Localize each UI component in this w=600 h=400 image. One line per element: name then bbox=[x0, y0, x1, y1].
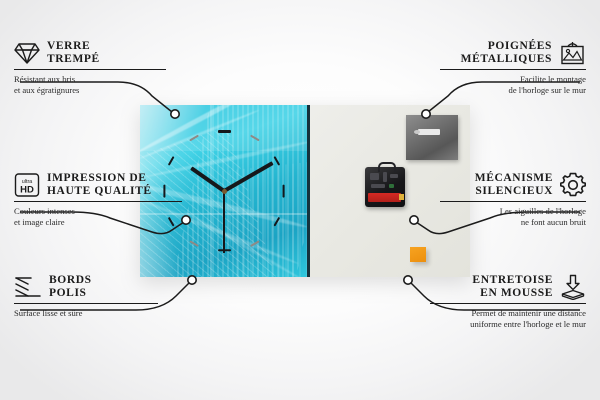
gear-icon bbox=[560, 172, 586, 198]
feature-title: POIGNÉES MÉTALLIQUES bbox=[461, 40, 552, 66]
mechanism-detail bbox=[390, 174, 398, 178]
feature-entretoise-mousse: ENTRETOISE EN MOUSSE Permet de maintenir… bbox=[430, 274, 586, 329]
diamond-icon bbox=[14, 41, 40, 65]
feature-title: IMPRESSION DE HAUTE QUALITÉ bbox=[47, 172, 152, 198]
hanger-slot bbox=[418, 129, 440, 135]
mechanism-detail bbox=[371, 184, 385, 188]
feature-desc-line1: Couleurs intenses bbox=[14, 206, 190, 217]
feature-desc-line1: Résistant aux bris bbox=[14, 74, 174, 85]
battery bbox=[368, 193, 401, 202]
feature-divider bbox=[14, 303, 158, 304]
feature-title: ENTRETOISE EN MOUSSE bbox=[472, 274, 553, 300]
mechanism-hanger-loop bbox=[378, 162, 396, 172]
feature-desc-line2: de l'horloge sur le mur bbox=[440, 85, 586, 96]
feature-header: ultra HD IMPRESSION DE HAUTE QUALITÉ bbox=[14, 172, 190, 198]
feature-header: MÉCANISME SILENCIEUX bbox=[440, 172, 586, 198]
feature-desc-line1: Facilite le montage bbox=[440, 74, 586, 85]
glass-seam-vertical bbox=[210, 105, 212, 277]
mechanism-detail bbox=[383, 172, 387, 182]
feature-divider bbox=[14, 69, 166, 70]
battery-terminal bbox=[399, 194, 404, 200]
feature-header: BORDS POLIS bbox=[14, 274, 166, 300]
feature-desc-line2: et aux égratignures bbox=[14, 85, 174, 96]
feature-bords-polis: BORDS POLIS Surface lisse et sûre bbox=[14, 274, 166, 319]
ultra-hd-icon: ultra HD bbox=[14, 172, 40, 198]
feature-impression-hd: ultra HD IMPRESSION DE HAUTE QUALITÉ Cou… bbox=[14, 172, 190, 227]
feature-desc-line1: Permet de maintenir une distance bbox=[430, 308, 586, 319]
clock-second-hand bbox=[223, 191, 225, 253]
feature-desc-line2: uniforme entre l'horloge et le mur bbox=[430, 319, 586, 330]
hanger-hole bbox=[414, 130, 420, 134]
feature-mecanisme-silencieux: MÉCANISME SILENCIEUX Les aiguilles de l'… bbox=[440, 172, 586, 227]
mechanism-detail bbox=[389, 184, 394, 188]
feature-divider bbox=[440, 69, 586, 70]
infographic-canvas: VERRE TREMPÉ Résistant aux bris et aux é… bbox=[0, 0, 600, 400]
feature-desc-line2: et image claire bbox=[14, 217, 190, 228]
clock-center-pin bbox=[222, 189, 227, 194]
svg-text:HD: HD bbox=[20, 185, 34, 196]
feature-divider bbox=[14, 201, 182, 202]
feature-title: VERRE TREMPÉ bbox=[47, 40, 100, 66]
polished-edges-icon bbox=[14, 275, 42, 299]
feature-header: POIGNÉES MÉTALLIQUES bbox=[440, 40, 586, 66]
clock-mechanism bbox=[365, 167, 405, 207]
clock-tick bbox=[218, 130, 231, 132]
feature-desc-line2: ne font aucun bruit bbox=[440, 217, 586, 228]
feature-title: BORDS POLIS bbox=[49, 274, 92, 300]
feature-desc-line1: Surface lisse et sûre bbox=[14, 308, 166, 319]
feature-desc-line1: Les aiguilles de l'horloge bbox=[440, 206, 586, 217]
feature-divider bbox=[430, 303, 586, 304]
feature-divider bbox=[440, 201, 586, 202]
clock-tick bbox=[282, 184, 284, 197]
feature-title: MÉCANISME SILENCIEUX bbox=[475, 172, 553, 198]
metal-hanger-plate bbox=[406, 115, 458, 160]
connector-endpoint bbox=[188, 276, 196, 284]
feature-verre-trempe: VERRE TREMPÉ Résistant aux bris et aux é… bbox=[14, 40, 174, 95]
feature-poignees-metalliques: POIGNÉES MÉTALLIQUES Facilite le montage… bbox=[440, 40, 586, 95]
mechanism-detail bbox=[370, 173, 379, 180]
feature-header: ENTRETOISE EN MOUSSE bbox=[430, 274, 586, 300]
connector-endpoint bbox=[404, 276, 412, 284]
foam-spacer-icon bbox=[560, 274, 586, 300]
picture-hanger-icon bbox=[559, 41, 586, 65]
foam-spacer bbox=[410, 247, 426, 262]
feature-header: VERRE TREMPÉ bbox=[14, 40, 174, 66]
